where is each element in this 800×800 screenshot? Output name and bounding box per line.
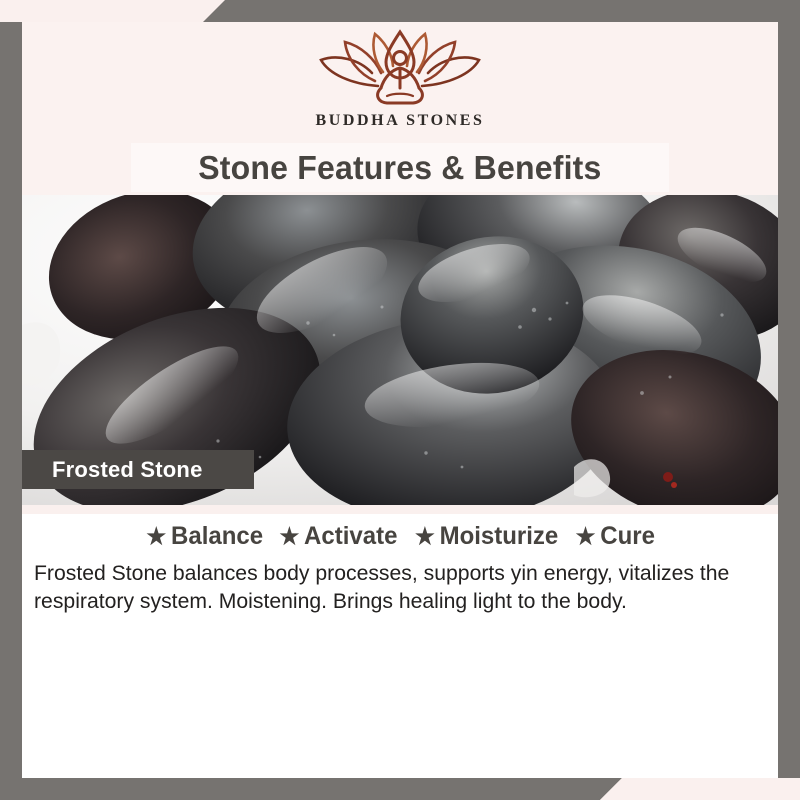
benefit-label: Activate	[304, 522, 397, 551]
benefit-item: ★ Activate	[280, 522, 398, 551]
star-icon: ★	[146, 525, 166, 548]
frame-right	[778, 0, 800, 780]
brand-name: BUDDHA STONES	[0, 112, 800, 130]
photo-caption-text: Frosted Stone	[22, 457, 203, 483]
description-text: Frosted Stone balances body processes, s…	[34, 559, 763, 616]
content-section: ★ Balance ★ Activate ★ Moisturize ★ Cure…	[22, 505, 778, 778]
benefits-row: ★ Balance ★ Activate ★ Moisturize ★ Cure	[22, 522, 778, 551]
title-banner: Stone Features & Benefits	[131, 143, 669, 192]
benefit-label: Moisturize	[440, 522, 559, 551]
infographic-card: BUDDHA STONES Stone Features & Benefits	[0, 0, 800, 800]
star-icon: ★	[415, 525, 435, 548]
star-icon: ★	[575, 525, 595, 548]
brand-logo: BUDDHA STONES	[0, 26, 800, 130]
content-top-tint	[22, 505, 778, 514]
frame-bottom-accent	[600, 778, 800, 800]
page-title: Stone Features & Benefits	[198, 149, 601, 187]
star-icon: ★	[280, 525, 300, 548]
photo-caption-bar: Frosted Stone	[22, 450, 254, 489]
description-line-1: Frosted Stone balances body processes, s…	[34, 561, 729, 585]
header-section: BUDDHA STONES Stone Features & Benefits	[0, 0, 800, 195]
benefit-label: Cure	[600, 522, 655, 551]
benefit-item: ★ Moisturize	[415, 522, 558, 551]
benefit-label: Balance	[171, 522, 263, 551]
benefit-item: ★ Cure	[575, 522, 654, 551]
benefit-item: ★ Balance	[146, 522, 263, 551]
lotus-meditation-icon	[0, 26, 800, 111]
description-line-2: respiratory system. Moistening. Brings h…	[34, 589, 627, 613]
frame-left	[0, 22, 22, 800]
